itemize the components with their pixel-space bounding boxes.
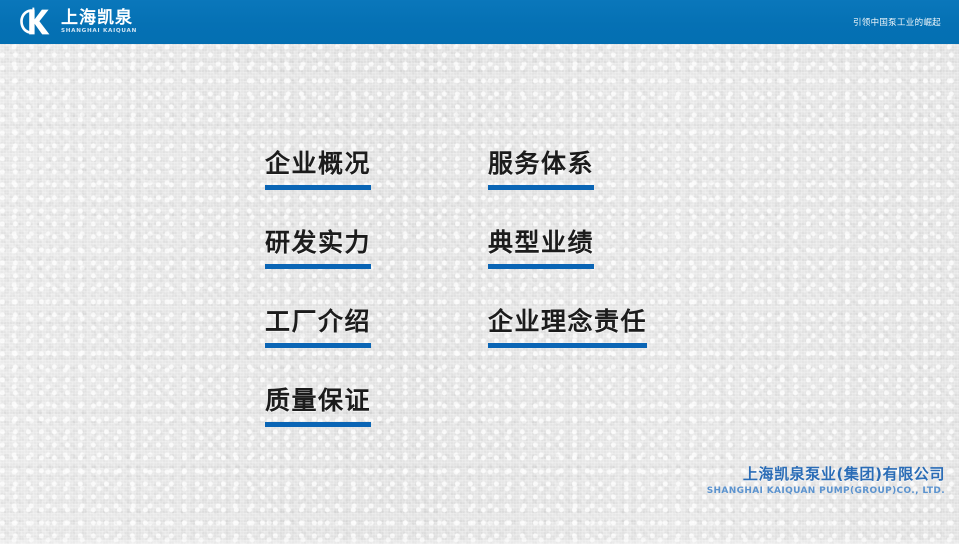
menu-item-label: 典型业绩 — [488, 227, 594, 259]
brand-logo[interactable]: 上海凯泉 SHANGHAI KAIQUAN — [16, 4, 134, 40]
menu-item-label: 企业理念责任 — [488, 306, 647, 338]
header-bar: 上海凯泉 SHANGHAI KAIQUAN 引领中国泵工业的崛起 — [0, 0, 959, 44]
kaiquan-k-logo-icon — [16, 6, 56, 38]
menu-item-underline — [265, 185, 371, 190]
menu-item-quality-assurance[interactable]: 质量保证 — [265, 385, 371, 427]
menu-item-factory-intro[interactable]: 工厂介绍 — [265, 306, 371, 348]
presentation-slide: 上海凯泉 SHANGHAI KAIQUAN 引领中国泵工业的崛起 企业概况 研发… — [0, 0, 959, 544]
brand-name-en: SHANGHAI KAIQUAN — [61, 29, 137, 34]
menu-item-label: 质量保证 — [265, 385, 371, 417]
background-texture — [0, 0, 959, 544]
menu-item-company-overview[interactable]: 企业概况 — [265, 148, 371, 190]
menu-item-rd-strength[interactable]: 研发实力 — [265, 227, 371, 269]
menu-item-label: 服务体系 — [488, 148, 594, 180]
menu-item-label: 工厂介绍 — [265, 306, 371, 338]
menu-column-right: 服务体系 典型业绩 企业理念责任 — [488, 148, 647, 348]
footer-company-cn: 上海凯泉泵业(集团)有限公司 — [707, 466, 945, 483]
menu-item-service-system[interactable]: 服务体系 — [488, 148, 594, 190]
menu-item-underline — [265, 264, 371, 269]
menu-item-philosophy-responsibility[interactable]: 企业理念责任 — [488, 306, 647, 348]
footer-company-en: SHANGHAI KAIQUAN PUMP(GROUP)CO., LTD. — [707, 485, 945, 497]
menu-item-underline — [488, 264, 594, 269]
menu-item-typical-performance[interactable]: 典型业绩 — [488, 227, 594, 269]
menu-item-label: 研发实力 — [265, 227, 371, 259]
bottom-edge-band — [0, 536, 959, 544]
menu-item-underline — [488, 343, 647, 348]
menu-item-underline — [265, 343, 371, 348]
brand-name-cn: 上海凯泉 — [61, 10, 134, 27]
menu-item-label: 企业概况 — [265, 148, 371, 180]
header-slogan: 引领中国泵工业的崛起 — [853, 0, 941, 44]
menu-item-underline — [488, 185, 594, 190]
footer-brand: 上海凯泉泵业(集团)有限公司 SHANGHAI KAIQUAN PUMP(GRO… — [707, 466, 945, 497]
menu-column-left: 企业概况 研发实力 工厂介绍 质量保证 — [265, 148, 371, 427]
brand-logo-text: 上海凯泉 SHANGHAI KAIQUAN — [61, 10, 134, 34]
menu-item-underline — [265, 422, 371, 427]
